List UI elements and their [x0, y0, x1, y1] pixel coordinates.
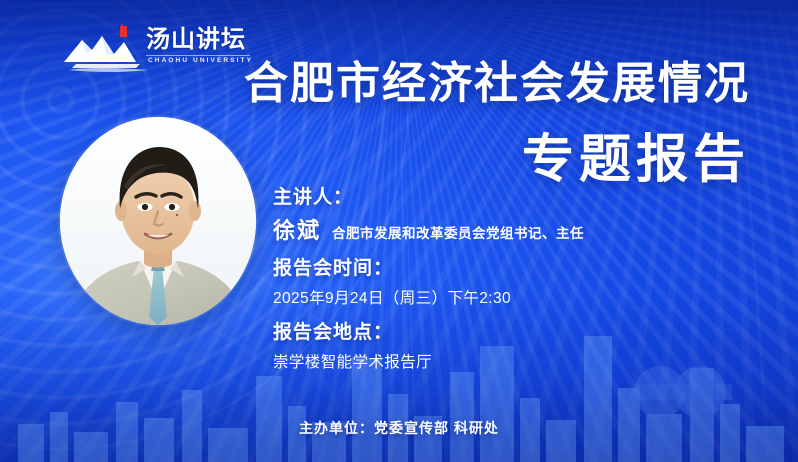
place-label: 报告会地点：	[273, 323, 693, 342]
speaker-portrait	[60, 117, 256, 325]
poster-title-line-2: 专题报告	[522, 134, 750, 186]
brand-logo: 汤山讲坛 CHAOHU UNIVERSITY	[62, 24, 242, 76]
mountain-logo-icon	[62, 24, 154, 74]
time-value: 2025年9月24日（周三）下午2:30	[273, 291, 693, 307]
place-value: 崇学楼智能学术报告厅	[273, 355, 693, 371]
time-label: 报告会时间：	[273, 259, 693, 278]
speaker-title: 合肥市发展和改革委员会党组书记、主任	[332, 227, 584, 241]
speaker-portrait-image	[60, 117, 256, 325]
poster-canvas: 汤山讲坛 CHAOHU UNIVERSITY	[0, 0, 798, 462]
poster-title-line-1: 合肥市经济社会发展情况	[244, 62, 750, 106]
organizer-footer: 主办单位：党委宣传部 科研处	[0, 418, 798, 438]
logo-name-zh: 汤山讲坛	[146, 28, 246, 52]
speaker-name: 徐斌	[273, 220, 321, 242]
speaker-row: 徐斌 合肥市发展和改革委员会党组书记、主任	[273, 220, 693, 242]
speaker-label: 主讲人：	[273, 188, 693, 207]
logo-name-en: CHAOHU UNIVERSITY	[148, 57, 253, 64]
event-info-block: 主讲人： 徐斌 合肥市发展和改革委员会党组书记、主任 报告会时间： 2025年9…	[273, 188, 693, 370]
logo-divider	[146, 55, 250, 56]
